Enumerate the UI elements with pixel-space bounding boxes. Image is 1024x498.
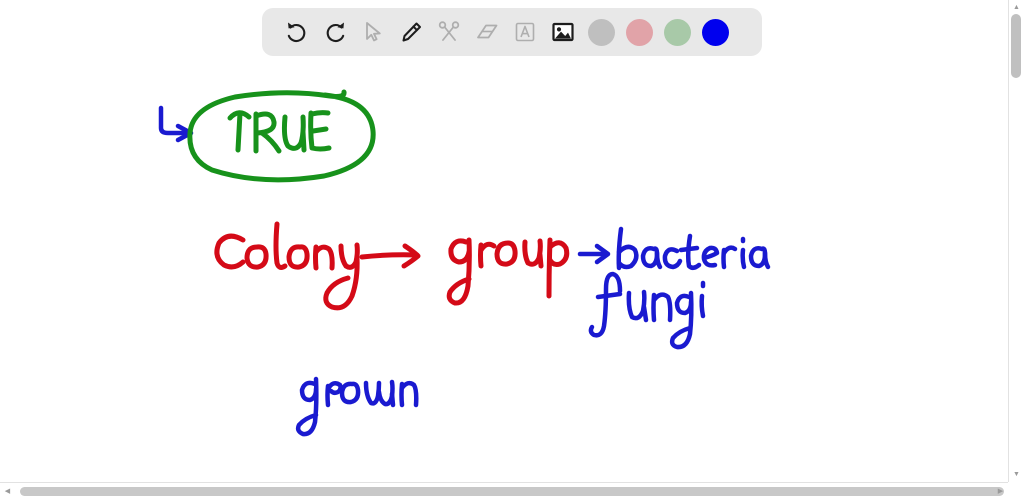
term-colony-stroke [217,224,357,308]
true-answer-text-stroke [230,113,329,151]
drawing-toolbar[interactable] [262,8,762,56]
scroll-right-button[interactable]: ▶ [993,484,1008,498]
text-tool-button[interactable] [506,13,544,51]
scroll-left-button[interactable]: ◀ [0,484,15,498]
color-swatch-green-icon [664,19,691,46]
term-bacteria-stroke [619,229,768,268]
text-a-icon [512,19,538,45]
undo-icon [284,19,310,45]
color-grey-button[interactable] [582,13,620,51]
scroll-down-button[interactable]: ▼ [1009,467,1024,482]
scissors-icon [436,19,462,45]
term-group-stroke [449,240,567,303]
chevron-right-icon: ▶ [998,488,1003,495]
chevron-up-icon: ▲ [1013,4,1020,11]
undo-button[interactable] [278,13,316,51]
scroll-up-button[interactable]: ▲ [1009,0,1024,15]
select-tool-button[interactable] [354,13,392,51]
pointer-arrow-to-true-stroke [161,108,191,140]
image-icon [550,19,576,45]
horizontal-scrollbar[interactable]: ◀ ▶ [0,482,1024,498]
eraser-tool-button[interactable] [468,13,506,51]
cut-tool-button[interactable] [430,13,468,51]
whiteboard-canvas[interactable]: ▲ ▼ ◀ ▶ [0,0,1024,498]
color-swatch-red-icon [626,19,653,46]
vertical-scroll-thumb[interactable] [1011,14,1021,78]
insert-image-button[interactable] [544,13,582,51]
drawing-layer[interactable] [0,0,1024,498]
horizontal-scroll-thumb[interactable] [20,487,1004,496]
vertical-scrollbar[interactable]: ▲ ▼ [1008,0,1024,482]
color-swatch-grey-icon [588,19,615,46]
redo-button[interactable] [316,13,354,51]
scrollbar-corner [1008,482,1024,498]
pencil-icon [398,19,424,45]
arrow-group-to-list-stroke [580,246,608,262]
arrow-colony-to-group-stroke [362,246,418,266]
chevron-down-icon: ▼ [1013,471,1020,478]
term-fungi-stroke [591,274,703,347]
redo-icon [322,19,348,45]
eraser-icon [474,19,500,45]
pen-tool-button[interactable] [392,13,430,51]
color-blue-button[interactable] [696,13,734,51]
cursor-icon [360,19,386,45]
color-green-button[interactable] [658,13,696,51]
term-grown-stroke [298,379,416,434]
true-circle-ellipse [190,92,373,180]
chevron-left-icon: ◀ [5,488,10,495]
color-red-button[interactable] [620,13,658,51]
color-swatch-blue-icon [702,19,729,46]
